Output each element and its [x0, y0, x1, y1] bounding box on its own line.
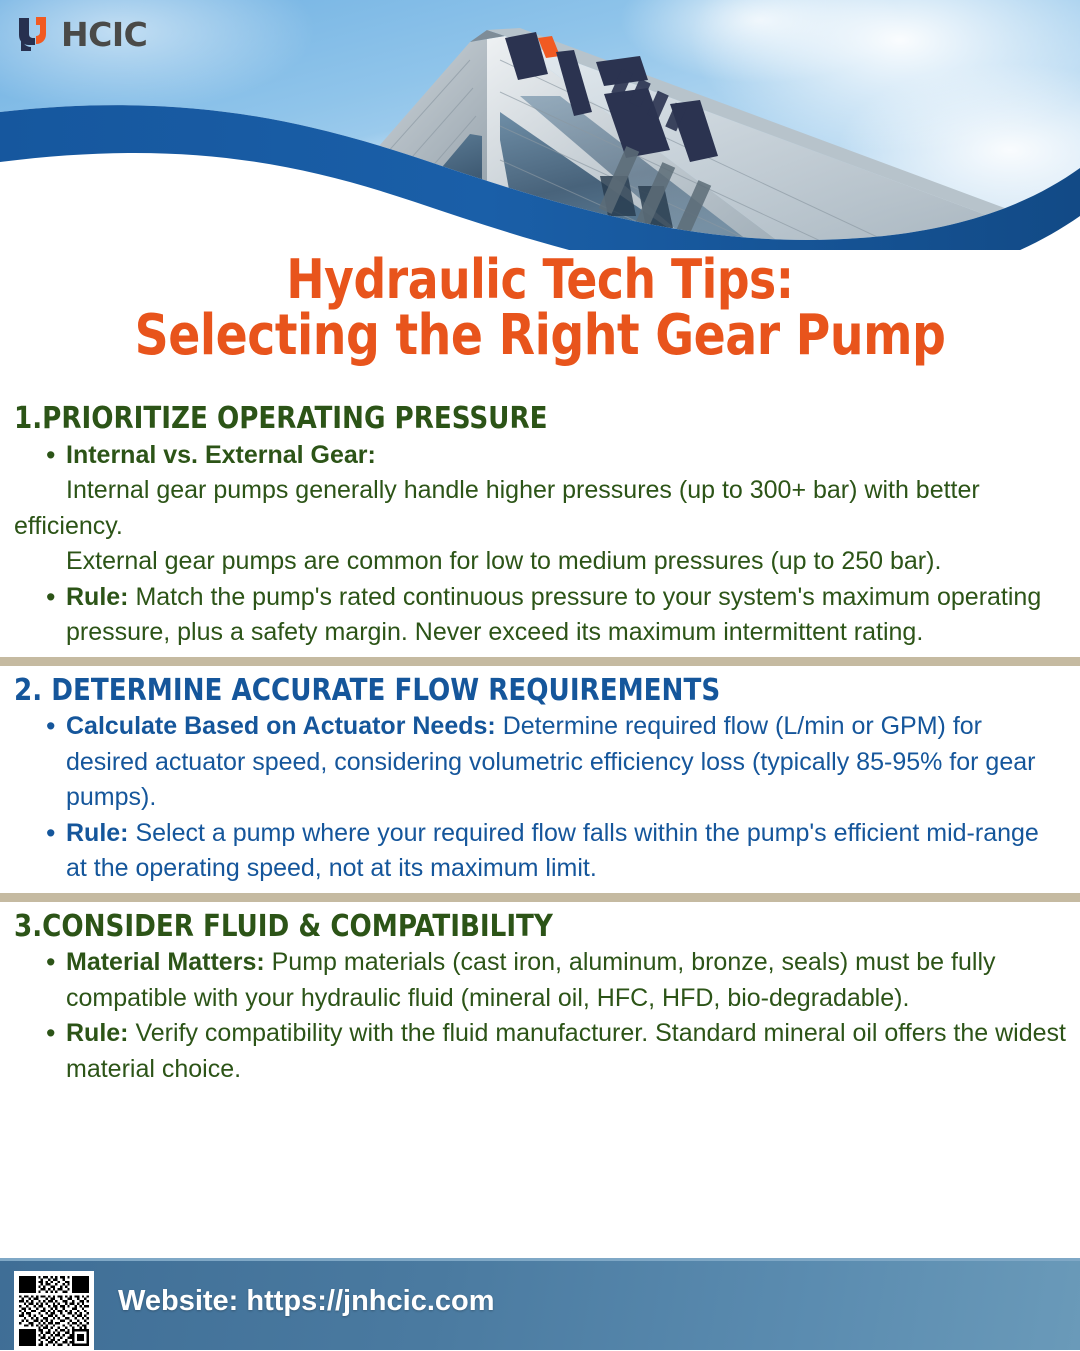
- section-divider: [0, 893, 1080, 902]
- list-item: Rule: Select a pump where your required …: [14, 816, 1066, 887]
- section-flow-requirements: 2. DETERMINE ACCURATE FLOW REQUIREMENTS …: [0, 672, 1080, 887]
- section-divider: [0, 657, 1080, 666]
- footer-bar: Website: https://jnhcic.com: [0, 1258, 1080, 1350]
- list-item: Calculate Based on Actuator Needs: Deter…: [14, 709, 1066, 816]
- website-label[interactable]: Website: https://jnhcic.com: [118, 1285, 495, 1318]
- list-item-text: Select a pump where your required flow f…: [66, 819, 1039, 883]
- qr-code[interactable]: [14, 1271, 94, 1351]
- list-item-lead: Calculate Based on Actuator Needs:: [66, 712, 496, 740]
- list-item-lead: Rule:: [66, 819, 129, 847]
- header-banner: HCIC: [0, 0, 1080, 250]
- page-title: Hydraulic Tech Tips: Selecting the Right…: [32, 252, 1047, 364]
- paragraph: Internal gear pumps generally handle hig…: [14, 473, 1066, 544]
- hcic-logo-text: HCIC: [61, 18, 147, 51]
- blue-wave-shape: [0, 0, 1080, 250]
- tips-content: 1.PRIORITIZE OPERATING PRESSURE Internal…: [0, 400, 1080, 1087]
- list-item-text: Verify compatibility with the fluid manu…: [66, 1019, 1066, 1083]
- list-item: Internal vs. External Gear:: [14, 438, 1066, 474]
- list-item: Material Matters: Pump materials (cast i…: [14, 945, 1066, 1016]
- list-item-lead: Rule:: [66, 1019, 129, 1047]
- hcic-logo: HCIC: [16, 14, 147, 54]
- list-item: Rule: Verify compatibility with the flui…: [14, 1016, 1066, 1087]
- list-item-text: Match the pump's rated continuous pressu…: [66, 583, 1041, 647]
- section-3-list: Material Matters: Pump materials (cast i…: [14, 945, 1066, 1087]
- section-2-heading: 2. DETERMINE ACCURATE FLOW REQUIREMENTS: [14, 672, 1034, 710]
- section-operating-pressure: 1.PRIORITIZE OPERATING PRESSURE Internal…: [0, 400, 1080, 651]
- section-1-list: Internal vs. External Gear:: [14, 438, 1066, 474]
- page-title-line-1: Hydraulic Tech Tips:: [286, 248, 793, 311]
- hcic-logo-mark-icon: [16, 14, 52, 54]
- section-3-heading: 3.CONSIDER FLUID & COMPATIBILITY: [14, 908, 1034, 946]
- section-fluid-compatibility: 3.CONSIDER FLUID & COMPATIBILITY Materia…: [0, 908, 1080, 1088]
- paragraph: External gear pumps are common for low t…: [14, 544, 1066, 580]
- list-item-lead: Rule:: [66, 583, 129, 611]
- list-item-lead: Internal vs. External Gear:: [66, 441, 376, 469]
- list-item: Rule: Match the pump's rated continuous …: [14, 580, 1066, 651]
- qr-code-icon: [19, 1276, 89, 1346]
- section-2-list: Calculate Based on Actuator Needs: Deter…: [14, 709, 1066, 887]
- section-1-heading: 1.PRIORITIZE OPERATING PRESSURE: [14, 400, 1034, 438]
- section-1-list-2: Rule: Match the pump's rated continuous …: [14, 580, 1066, 651]
- page-title-line-2: Selecting the Right Gear Pump: [32, 307, 1047, 364]
- list-item-lead: Material Matters:: [66, 948, 265, 976]
